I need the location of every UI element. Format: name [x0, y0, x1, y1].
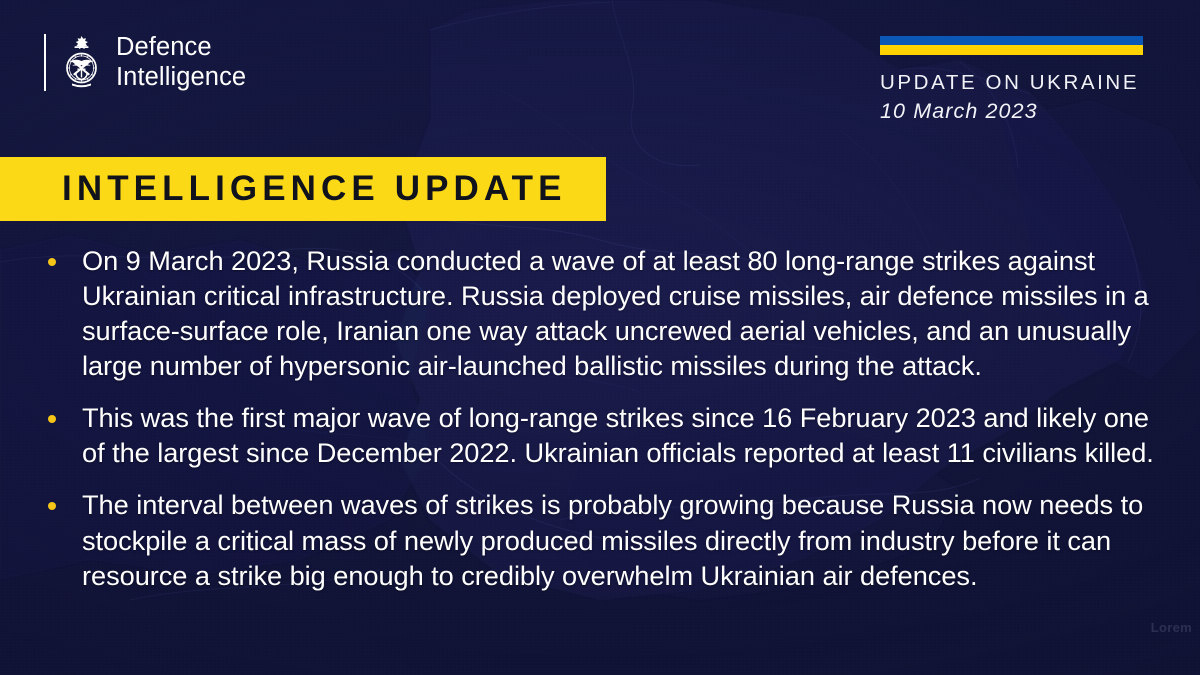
brand-wordmark: Defence Intelligence: [116, 33, 246, 92]
list-item: On 9 March 2023, Russia conducted a wave…: [44, 243, 1156, 383]
bullet-dot-icon: [44, 400, 82, 470]
bullet-list: On 9 March 2023, Russia conducted a wave…: [44, 243, 1156, 610]
list-item: The interval between waves of strikes is…: [44, 487, 1156, 592]
banner-label: INTELLIGENCE UPDATE: [62, 169, 567, 209]
update-date: 10 March 2023: [880, 99, 1145, 124]
list-item: This was the first major wave of long-ra…: [44, 400, 1156, 470]
ukraine-flag-bar-icon: [880, 36, 1143, 55]
bullet-text: This was the first major wave of long-ra…: [82, 400, 1156, 470]
masthead: Defence Intelligence: [44, 33, 246, 92]
update-title: UPDATE ON UKRAINE: [880, 71, 1145, 95]
mod-crest-icon: [59, 34, 104, 91]
bullet-dot-icon: [44, 487, 82, 592]
flag-stripe-yellow: [880, 45, 1143, 55]
brand-line-defence: Defence: [116, 33, 246, 63]
header-right: UPDATE ON UKRAINE 10 March 2023: [880, 36, 1145, 124]
flag-stripe-blue: [880, 36, 1143, 45]
bullet-text: The interval between waves of strikes is…: [82, 487, 1156, 592]
brand-line-intelligence: Intelligence: [116, 63, 246, 93]
bullet-dot-icon: [44, 243, 82, 383]
masthead-divider: [44, 34, 46, 91]
bullet-text: On 9 March 2023, Russia conducted a wave…: [82, 243, 1156, 383]
slide-content: Defence Intelligence UPDATE ON UKRAINE 1…: [0, 0, 1200, 675]
intelligence-update-banner: INTELLIGENCE UPDATE: [0, 157, 606, 221]
